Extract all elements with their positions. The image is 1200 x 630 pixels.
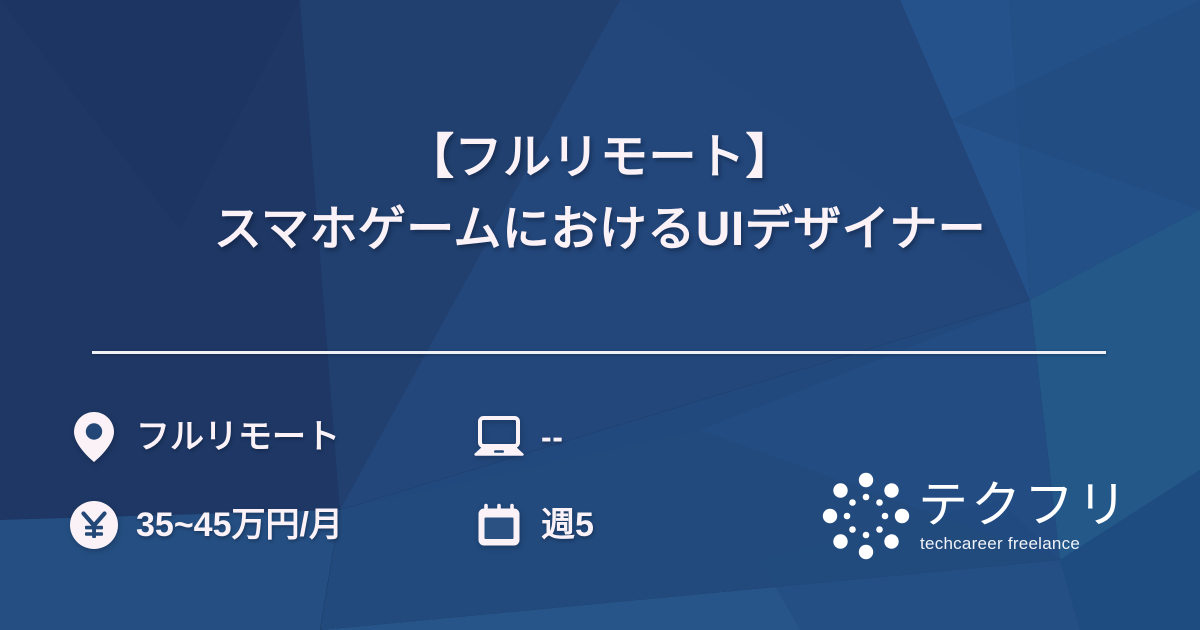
dot-ring-icon	[818, 470, 914, 562]
brand-logo: テクフリ techcareer freelance	[818, 470, 1138, 562]
meta-label-work-style: --	[541, 421, 564, 453]
location-pin-icon	[66, 409, 122, 465]
meta-label-work-location: フルリモート	[136, 420, 340, 454]
calendar-icon	[471, 497, 527, 553]
meta-label-monthly-pay: 35~45万円/月	[136, 508, 343, 542]
title-line-2: スマホゲームにおけるUIデザイナー	[0, 194, 1200, 266]
yen-circle-icon	[66, 497, 122, 553]
page-title: 【フルリモート】 スマホゲームにおけるUIデザイナー	[0, 122, 1200, 266]
meta-item-work-location: フルリモート	[66, 409, 471, 465]
meta-item-monthly-pay: 35~45万円/月	[66, 497, 471, 553]
meta-item-work-style: --	[471, 409, 761, 465]
laptop-icon	[471, 409, 527, 465]
job-meta-grid: フルリモート --	[66, 393, 766, 569]
job-posting-card: 【フルリモート】 スマホゲームにおけるUIデザイナー フルリモート	[0, 0, 1200, 630]
meta-label-days-per-week: 週5	[541, 508, 594, 542]
title-line-1: 【フルリモート】	[0, 122, 1200, 194]
meta-item-days-per-week: 週5	[471, 497, 761, 553]
logo-name: テクフリ	[918, 478, 1130, 532]
logo-subtitle: techcareer freelance	[920, 534, 1080, 554]
meta-row: 35~45万円/月 週5	[66, 481, 766, 569]
meta-row: フルリモート --	[66, 393, 766, 481]
divider	[92, 351, 1106, 354]
